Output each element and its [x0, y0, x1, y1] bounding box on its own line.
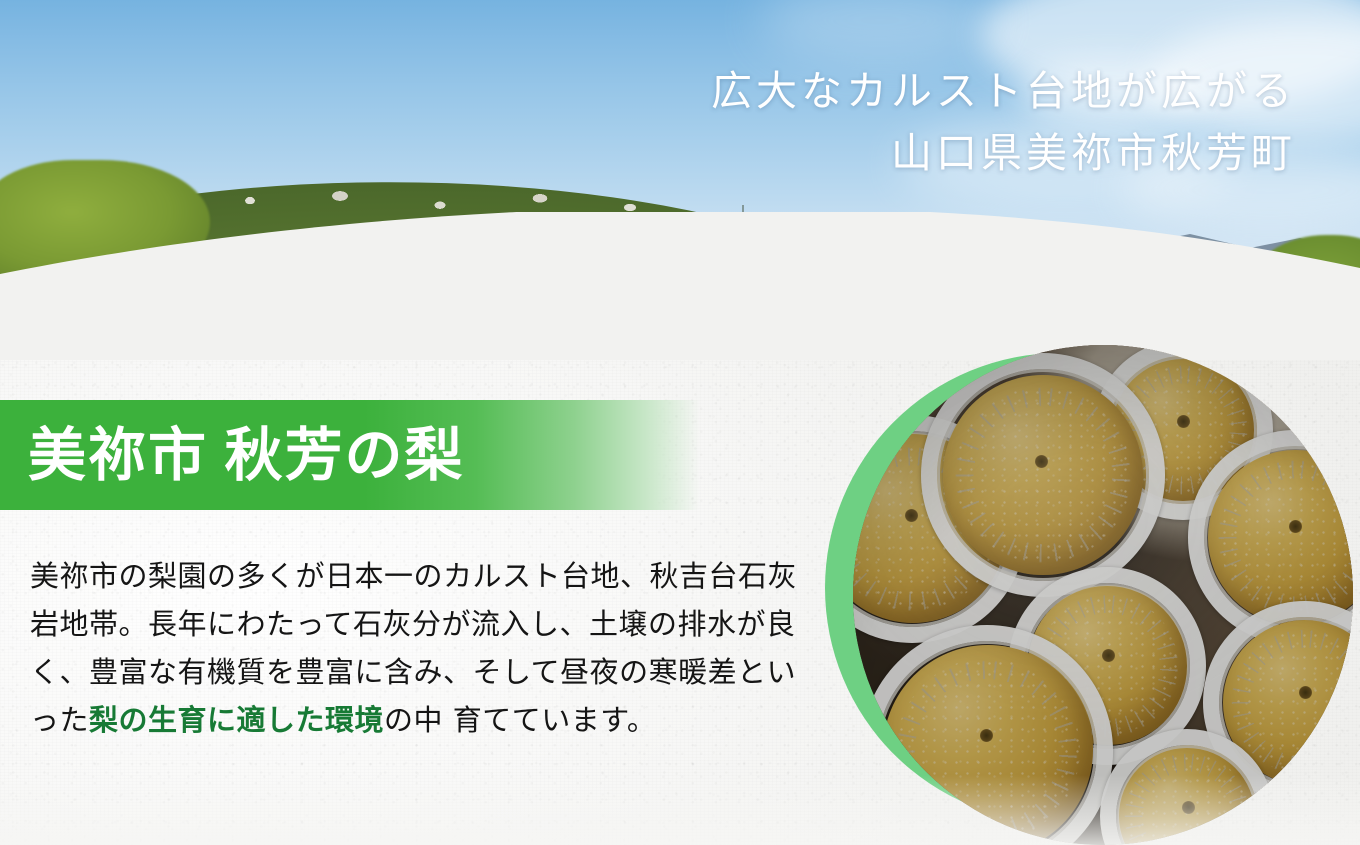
body-segment-3: の中 育てています。: [384, 703, 656, 737]
hero-headline-line1: 広大なカルスト台地が広がる: [711, 60, 1296, 122]
page-title: 美祢市 秋芳の梨: [28, 406, 465, 506]
hero-headline-line2: 山口県美祢市秋芳町: [711, 122, 1296, 184]
pear-promo-page: 広大なカルスト台地が広がる 山口県美祢市秋芳町 美祢市 秋芳の梨 美祢市の梨園の…: [0, 0, 1360, 845]
pear-net-wrap: [921, 353, 1165, 597]
pear-photo-group: [825, 335, 1355, 845]
body-highlight: 梨の生育に適した環境: [89, 703, 384, 737]
hero-headline: 広大なカルスト台地が広がる 山口県美祢市秋芳町: [711, 60, 1296, 184]
hero-landscape-photo: 広大なカルスト台地が広がる 山口県美祢市秋芳町: [0, 0, 1360, 360]
body-description: 美祢市の梨園の多くが日本一のカルスト台地、秋吉台石灰岩地帯。長年にわたって石灰分…: [30, 552, 800, 744]
pear-photo-circle: [853, 345, 1353, 845]
